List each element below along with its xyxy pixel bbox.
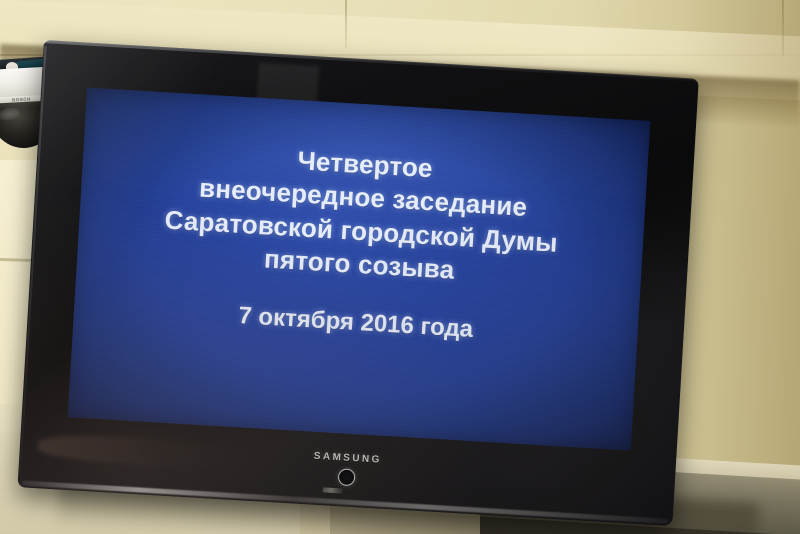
presentation-slide: Четвертое внеочередное заседание Саратов… (68, 88, 651, 451)
slide-date: 7 октября 2016 года (238, 302, 474, 344)
photo-scene: BOSCH Четвертое внеочередное заседание С… (0, 0, 800, 534)
slide-title: Четвертое внеочередное заседание Саратов… (162, 137, 563, 293)
wall-panel-seam (345, 0, 347, 48)
samsung-logo: SAMSUNG (314, 451, 382, 466)
power-led-icon[interactable] (338, 468, 356, 486)
tv-screen[interactable]: Четвертое внеочередное заседание Саратов… (68, 88, 651, 451)
ir-receiver-window (323, 487, 343, 493)
television[interactable]: Четвертое внеочередное заседание Саратов… (17, 40, 698, 526)
